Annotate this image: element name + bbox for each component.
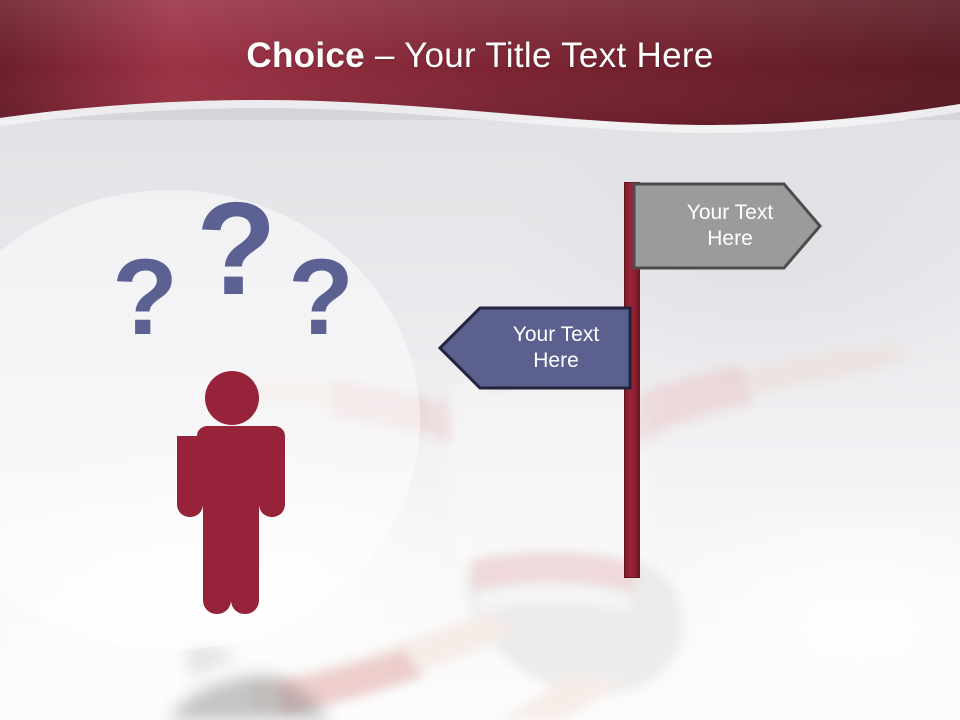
title-rest-part: – Your Title Text Here	[365, 36, 714, 75]
sign-blue-line1: Your Text	[513, 323, 599, 346]
sign-blue-label: Your TextHere	[513, 322, 599, 373]
sign-gray-label: Your TextHere	[687, 200, 773, 251]
page-title: Choice – Your Title Text Here	[246, 36, 713, 76]
sign-blue-line2: Here	[533, 349, 579, 372]
presentation-slide: Choice – Your Title Text Here ? ? ? Your…	[0, 0, 960, 720]
sign-gray-line1: Your Text	[687, 201, 773, 224]
question-mark-icon-left: ?	[112, 243, 178, 351]
person-pictogram-icon	[170, 370, 294, 615]
sign-gray-line2: Here	[707, 227, 753, 250]
sign-blue-left[interactable]: Your TextHere	[438, 306, 632, 390]
title-bold-part: Choice	[246, 36, 365, 75]
sign-gray-right[interactable]: Your TextHere	[632, 182, 822, 270]
question-mark-icon-right: ?	[288, 243, 354, 351]
title-container: Choice – Your Title Text Here	[0, 0, 960, 112]
question-mark-icon-center: ?	[196, 183, 277, 315]
title-banner: Choice – Your Title Text Here	[0, 0, 960, 140]
